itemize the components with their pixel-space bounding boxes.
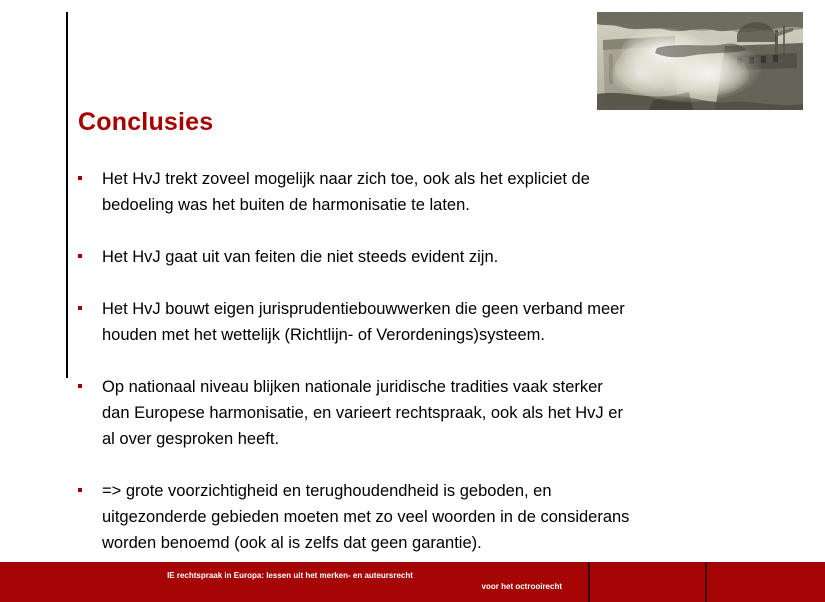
list-item: Het HvJ trekt zoveel mogelijk naar zich … [72, 166, 752, 218]
footer-divider [705, 562, 707, 602]
bullet-marker-icon [78, 384, 82, 388]
list-item-text: Op nationaal niveau blijken nationale ju… [102, 374, 752, 452]
list-item-text: => grote voorzichtigheid en terughoudend… [102, 478, 752, 556]
conclusions-bullet-list: Het HvJ trekt zoveel mogelijk naar zich … [72, 166, 752, 582]
footer-title-line-1: IE rechtspraak in Europa: lessen uit het… [0, 570, 580, 581]
footer-divider [588, 562, 590, 602]
slide-canvas: Conclusies Het HvJ trekt zoveel mogelijk… [0, 0, 825, 602]
list-item: Het HvJ gaat uit van feiten die niet ste… [72, 244, 752, 270]
footer-title: IE rechtspraak in Europa: lessen uit het… [0, 570, 580, 592]
footer-banner: IE rechtspraak in Europa: lessen uit het… [0, 562, 825, 602]
footer-title-line-2: voor het octrooirecht [0, 581, 580, 592]
list-item: Het HvJ bouwt eigen jurisprudentiebouwwe… [72, 296, 752, 348]
list-item-text: Het HvJ gaat uit van feiten die niet ste… [102, 244, 752, 270]
list-item-text: Het HvJ trekt zoveel mogelijk naar zich … [102, 166, 752, 218]
vintage-industrial-photo [597, 12, 803, 110]
bullet-marker-icon [78, 488, 82, 492]
photo-artwork [597, 12, 803, 110]
list-item: => grote voorzichtigheid en terughoudend… [72, 478, 752, 556]
page-title: Conclusies [78, 108, 213, 137]
bullet-marker-icon [78, 176, 82, 180]
bullet-marker-icon [78, 306, 82, 310]
left-vertical-rule [66, 12, 68, 378]
list-item: Op nationaal niveau blijken nationale ju… [72, 374, 752, 452]
list-item-text: Het HvJ bouwt eigen jurisprudentiebouwwe… [102, 296, 752, 348]
bullet-marker-icon [78, 254, 82, 258]
